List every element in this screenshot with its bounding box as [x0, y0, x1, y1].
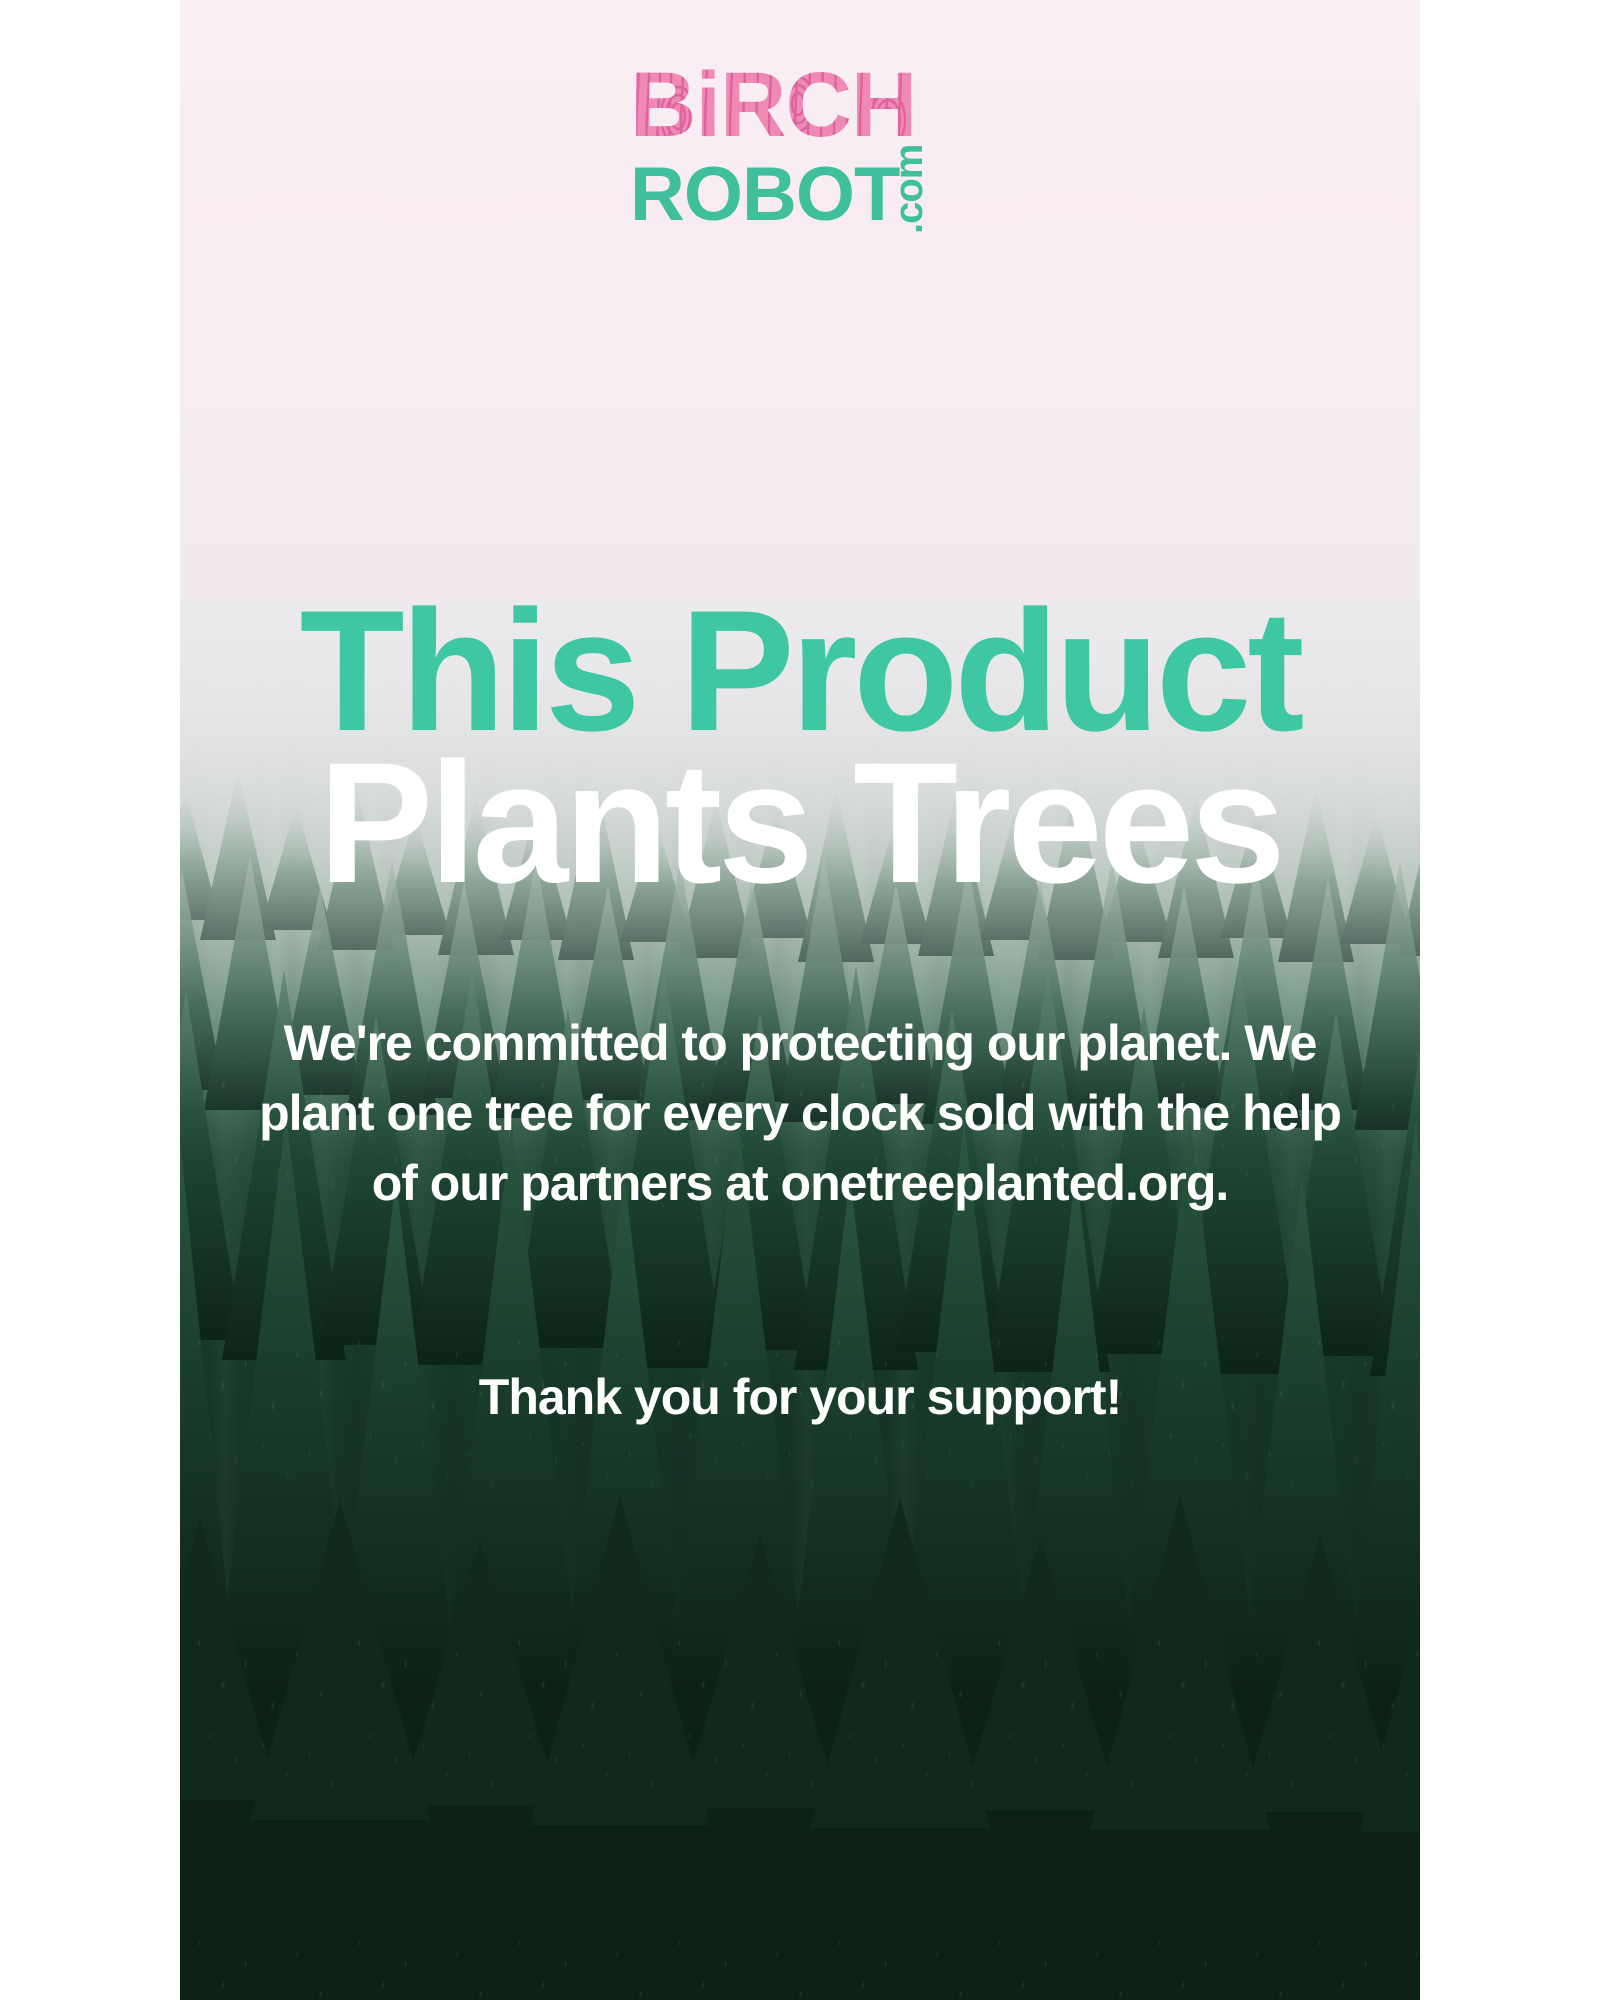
- logo-robot-wordmark: ROBOT: [630, 152, 900, 237]
- logo-dotcom: .com: [887, 145, 931, 234]
- foliage-texture-overlay: [180, 620, 1420, 2000]
- svg-text:.com: .com: [887, 145, 931, 234]
- promo-poster: BiRCH ROBOT .com This Product Plants Tre…: [180, 0, 1420, 2000]
- brand-logo[interactable]: BiRCH ROBOT .com: [180, 58, 1420, 248]
